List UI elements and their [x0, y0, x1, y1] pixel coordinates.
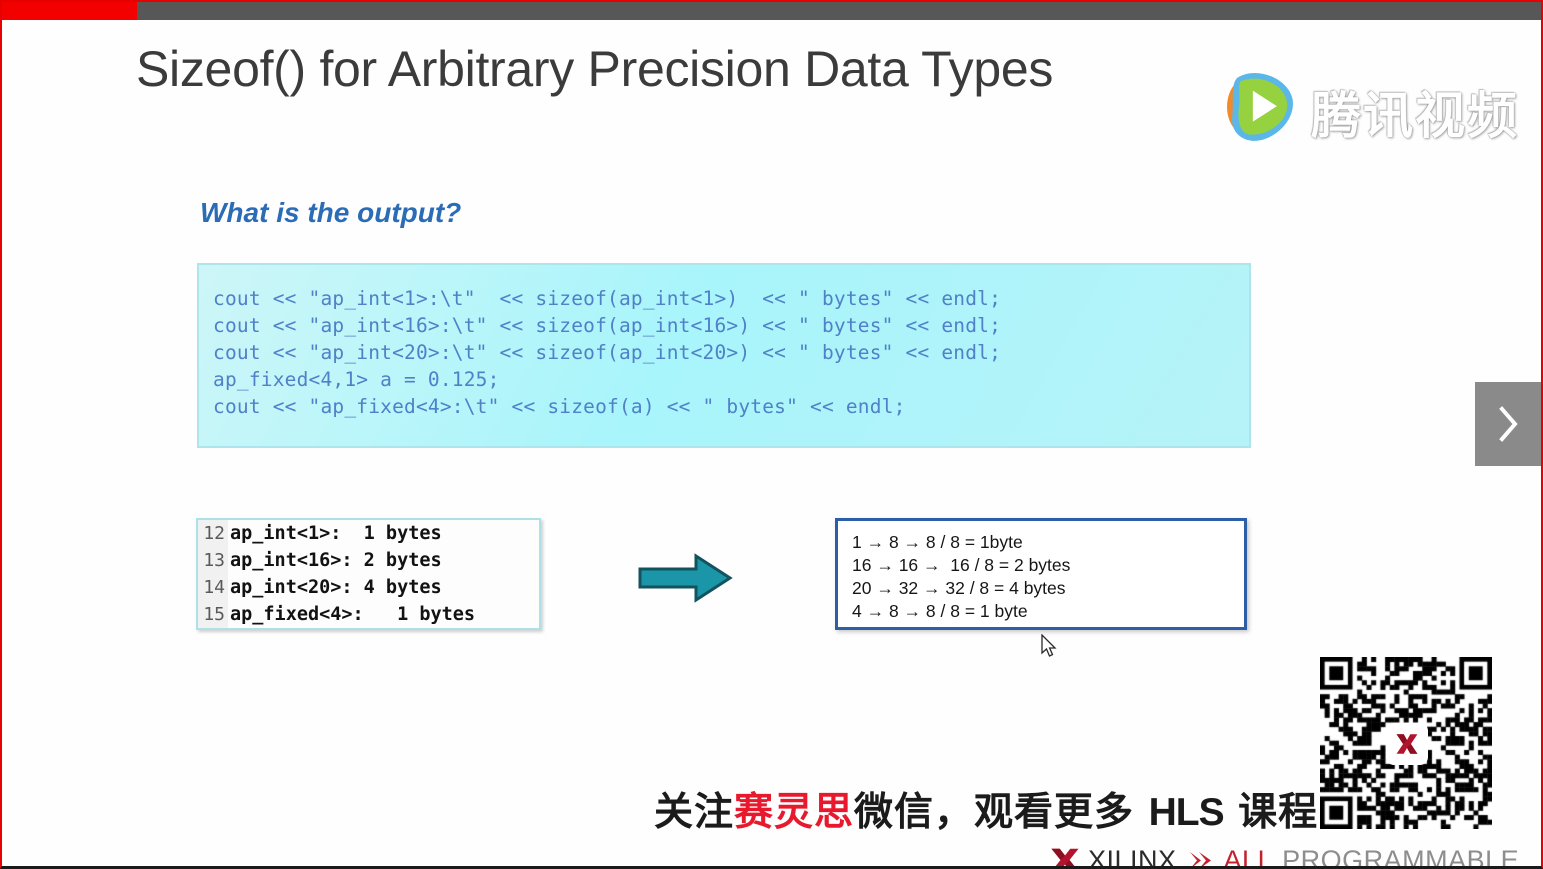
console-output-box: 12 ap_int<1>: 1 bytes 13 ap_int<16>: 2 b… [196, 518, 541, 630]
wechat-qr-code [1320, 657, 1492, 829]
console-row: 12 ap_int<1>: 1 bytes [198, 520, 539, 547]
cta-banner: 关注赛灵思微信，观看更多 HLS 课程 [654, 781, 1318, 837]
cta-suffix: 课程 [1224, 790, 1319, 835]
tencent-video-wordmark: 腾讯视频 [1311, 76, 1519, 148]
code-line: cout << "ap_fixed<4>:\t" << sizeof(a) <<… [213, 393, 1249, 420]
cta-latin: HLS [1149, 791, 1224, 834]
right-arrow-icon [638, 552, 733, 604]
code-line: cout << "ap_int<20>:\t" << sizeof(ap_int… [213, 339, 1249, 366]
tagline-all: ALL [1224, 845, 1274, 869]
code-line: cout << "ap_int<1>:\t" << sizeof(ap_int<… [213, 285, 1249, 312]
cta-highlight: 赛灵思 [734, 790, 854, 835]
console-line-number: 14 [198, 574, 228, 601]
explanation-line: 1 → 8 → 8 / 8 = 1byte [852, 531, 1244, 554]
xilinx-qr-logo [1388, 725, 1426, 763]
xilinx-chevron-icon [1189, 851, 1213, 869]
question-heading: What is the output? [200, 197, 461, 229]
xilinx-brand-bar: XILINX ALL PROGRAMMABLE. [1050, 843, 1527, 869]
console-line-number: 12 [198, 520, 228, 547]
console-line-text: ap_int<20>: 4 bytes [228, 574, 442, 601]
chevron-right-icon [1497, 406, 1519, 442]
cta-middle: 微信，观看更多 [854, 790, 1149, 835]
video-player: Sizeof() for Arbitrary Precision Data Ty… [0, 0, 1543, 869]
xilinx-logo-icon [1050, 847, 1080, 869]
tagline-programmable: PROGRAMMABLE. [1282, 845, 1527, 869]
console-line-text: ap_int<16>: 2 bytes [228, 547, 442, 574]
console-row: 13 ap_int<16>: 2 bytes [198, 547, 539, 574]
explanation-line: 20 → 32 → 32 / 8 = 4 bytes [852, 577, 1244, 600]
tencent-video-logo: 腾讯视频 [1215, 62, 1515, 154]
page-title: Sizeof() for Arbitrary Precision Data Ty… [136, 40, 1053, 98]
xilinx-wordmark: XILINX [1088, 845, 1177, 869]
video-progress-fill [2, 2, 137, 20]
console-row: 14 ap_int<20>: 4 bytes [198, 574, 539, 601]
code-block: cout << "ap_int<1>:\t" << sizeof(ap_int<… [197, 263, 1251, 448]
xilinx-x-icon [1394, 731, 1420, 757]
slide-canvas: Sizeof() for Arbitrary Precision Data Ty… [2, 20, 1541, 866]
code-line: cout << "ap_int<16>:\t" << sizeof(ap_int… [213, 312, 1249, 339]
tencent-play-icon [1215, 64, 1301, 150]
code-line: ap_fixed<4,1> a = 0.125; [213, 366, 1249, 393]
console-row: 15 ap_fixed<4>: 1 bytes [198, 601, 539, 628]
console-line-text: ap_int<1>: 1 bytes [228, 520, 442, 547]
console-line-number: 13 [198, 547, 228, 574]
console-line-text: ap_fixed<4>: 1 bytes [228, 601, 475, 628]
next-slide-button[interactable] [1475, 382, 1541, 466]
cta-prefix: 关注 [654, 790, 734, 835]
console-line-number: 15 [198, 601, 228, 628]
explanation-box: 1 → 8 → 8 / 8 = 1byte 16 → 16 → 16 / 8 =… [835, 518, 1247, 630]
video-progress-bar[interactable] [2, 2, 1541, 20]
explanation-line: 16 → 16 → 16 / 8 = 2 bytes [852, 554, 1244, 577]
explanation-line: 4 → 8 → 8 / 8 = 1 byte [852, 600, 1244, 623]
